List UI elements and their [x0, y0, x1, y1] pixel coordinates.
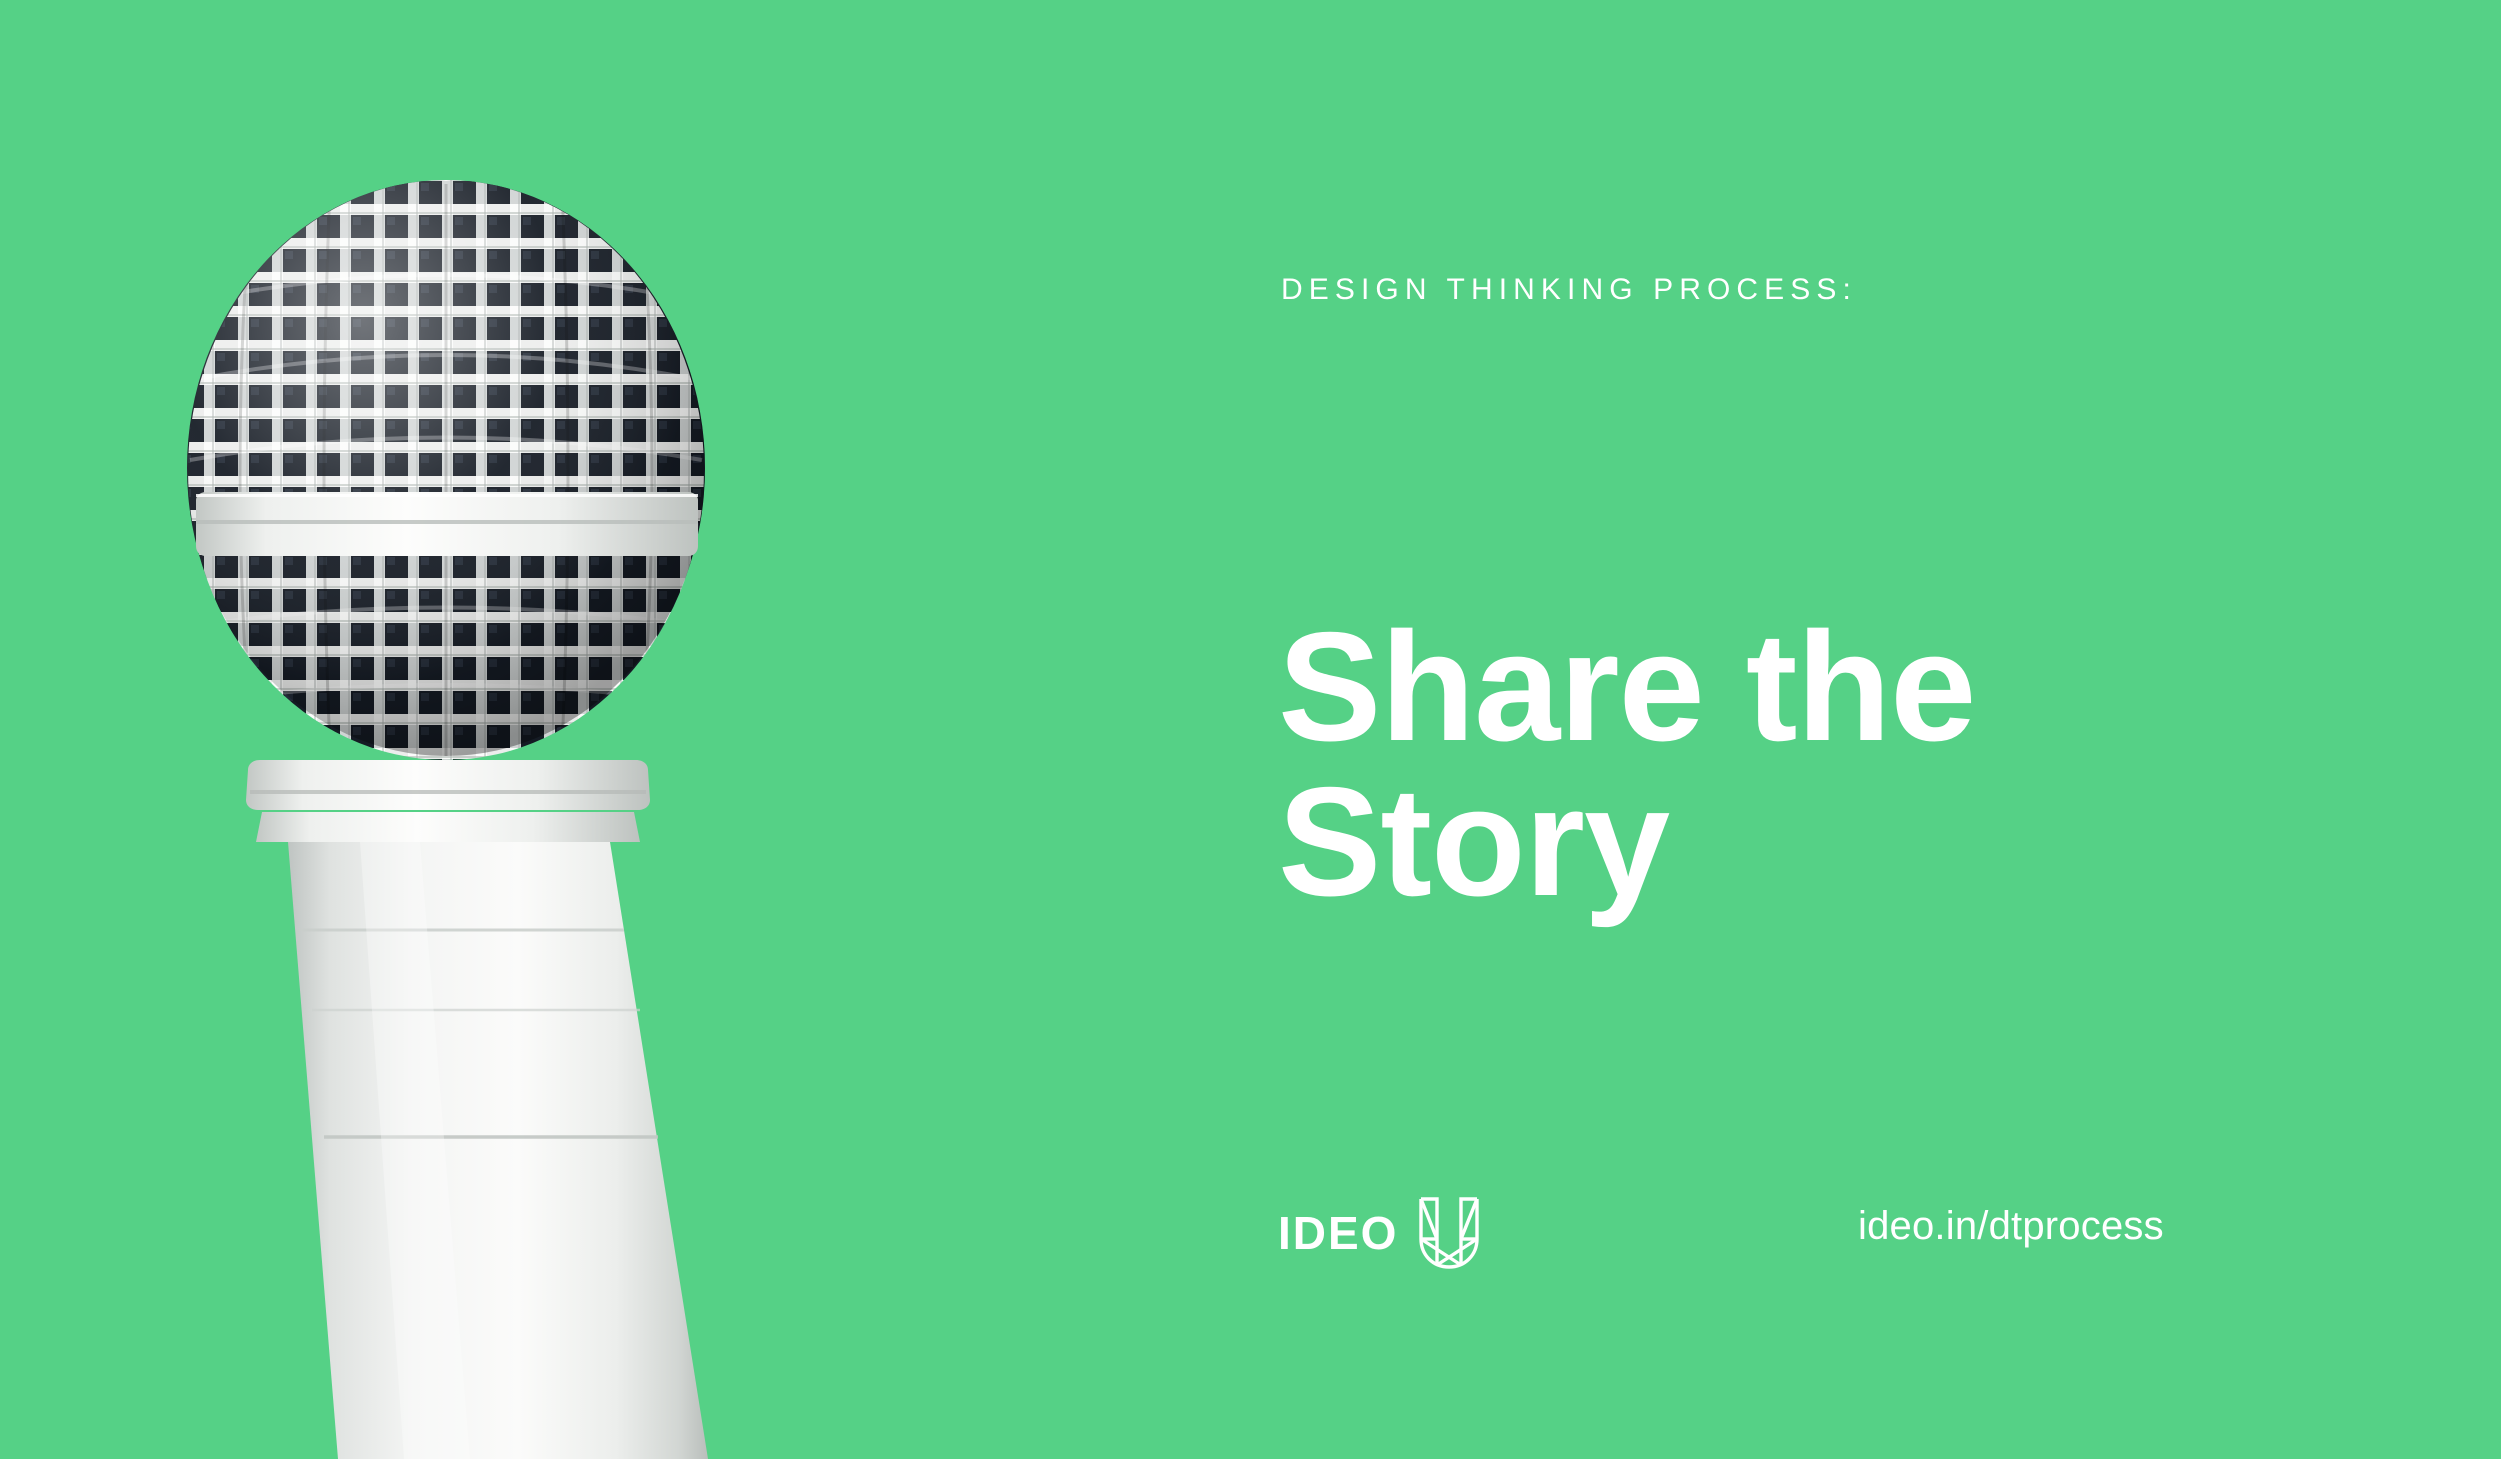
site-url-label[interactable]: ideo.in/dtprocess: [1858, 1206, 2164, 1246]
mic-handle: [288, 842, 708, 1459]
mic-lower-collar: [246, 760, 650, 842]
eyebrow-label: DESIGN THINKING PROCESS:: [1281, 275, 1857, 305]
ideo-wordmark: IDEO: [1278, 1210, 1398, 1256]
ideo-u-logo[interactable]: IDEO: [1278, 1196, 1480, 1270]
microphone-illustration: [0, 0, 1000, 1459]
copy-block: DESIGN THINKING PROCESS: Share the Story…: [1278, 0, 2378, 1459]
headline-line-1: Share the: [1278, 609, 1975, 764]
headline-line-2: Story: [1278, 764, 1975, 919]
footer-row: IDEO: [1278, 1196, 2378, 1286]
ideo-u-mark-icon: [1418, 1196, 1480, 1270]
mic-collar-band: [196, 492, 698, 556]
slide-canvas: DESIGN THINKING PROCESS: Share the Story…: [0, 0, 2501, 1459]
mic-grille: [180, 170, 720, 780]
page-title: Share the Story: [1278, 609, 1975, 919]
